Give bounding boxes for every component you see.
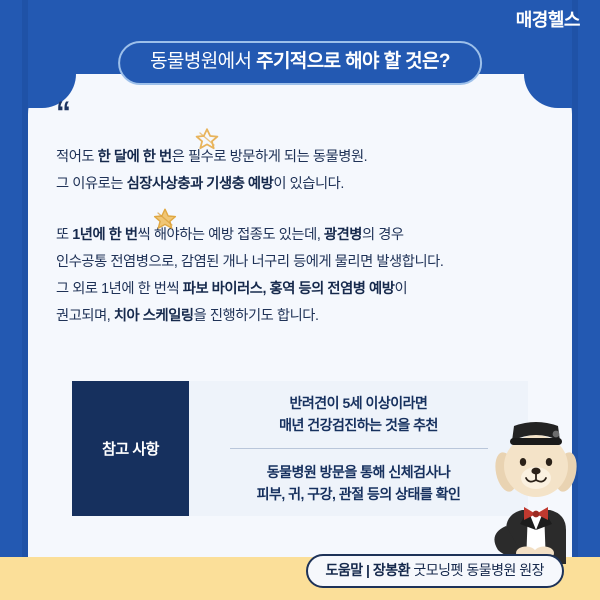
page-title-bold: 주기적으로 해야 할 것은? (256, 51, 450, 72)
credit-bold: 도움말 | 장봉환 (326, 562, 414, 578)
paragraph-2-line-1: 또 1년에 한 번씩 해야하는 예방 접종도 있는데, 광견병의 경우 (56, 222, 552, 249)
note-block-2-line-2: 피부, 귀, 구강, 관절 등의 상태를 확인 (257, 483, 461, 505)
body-copy: “ 적어도 한 달에 한 번은 필수로 방문하게 되는 동물병원. 그 이유로는… (56, 104, 552, 330)
brand-logo: 매경헬스 (516, 8, 580, 32)
p1l2-bold-1: 심장사상충과 기생충 예방 (127, 176, 274, 192)
page-title-light: 동물병원에서 (150, 51, 256, 72)
note-block-2-line-1: 동물병원 방문을 통해 신체검사나 (257, 461, 461, 483)
credit-badge: 도움말 | 장봉환 굿모닝펫 동물병원 원장 (306, 554, 564, 588)
note-block-1: 반려견이 5세 이상이라면 매년 건강검진하는 것을 추천 (279, 392, 438, 436)
paragraph-2-line-3: 그 외로 1년에 한 번씩 파보 바이러스, 홍역 등의 전염병 예방이 (56, 276, 552, 303)
star-doodle-icon (194, 126, 220, 152)
dog-doctor-mascot-icon (476, 414, 594, 564)
note-block-1-line-2: 매년 건강검진하는 것을 추천 (279, 414, 438, 436)
p2l1-bold-1: 1년에 한 번 (72, 227, 137, 243)
p2l3-plain-2: 이 (394, 281, 407, 297)
p1l2-plain-2: 이 있습니다. (273, 176, 344, 192)
p2l4-plain-2: 을 진행하기도 합니다. (194, 308, 319, 324)
paragraph-2-line-4: 권고되며, 치아 스케일링을 진행하기도 합니다. (56, 303, 552, 330)
p2l4-bold-1: 치아 스케일링 (114, 308, 194, 324)
p2l1-plain-1: 또 (56, 227, 72, 243)
infographic-card: 매경헬스 동물병원에서 주기적으로 해야 할 것은? “ 적어도 한 달에 한 … (0, 0, 600, 600)
note-box: 참고 사항 반려견이 5세 이상이라면 매년 건강검진하는 것을 추천 동물병원… (72, 381, 528, 516)
paragraph-2-line-2: 인수공통 전염병으로, 감염된 개나 너구리 등에게 물리면 발생합니다. (56, 249, 552, 276)
note-box-label-text: 참고 사항 (102, 438, 159, 459)
note-box-divider (230, 448, 488, 449)
note-block-1-line-1: 반려견이 5세 이상이라면 (279, 392, 438, 414)
paragraph-1-line-1: 적어도 한 달에 한 번은 필수로 방문하게 되는 동물병원. (56, 144, 552, 171)
paragraph-1-line-2: 그 이유로는 심장사상충과 기생충 예방이 있습니다. (56, 171, 552, 198)
credit-regular: 굿모닝펫 동물병원 원장 (413, 562, 544, 578)
p1l2-plain-1: 그 이유로는 (56, 176, 127, 192)
star-doodle-icon (152, 206, 178, 232)
p1l1-plain-1: 적어도 (56, 149, 98, 165)
p2l4-plain-1: 권고되며, (56, 308, 114, 324)
page-title: 동물병원에서 주기적으로 해야 할 것은? (118, 41, 482, 85)
p2l2-plain-1: 인수공통 전염병으로, 감염된 개나 너구리 등에게 물리면 발생합니다. (56, 254, 443, 270)
p1l1-bold-1: 한 달에 한 번 (98, 149, 172, 165)
p2l3-bold-1: 파보 바이러스, 홍역 등의 전염병 예방 (183, 281, 395, 297)
p2l1-bold-2: 광견병 (324, 227, 362, 243)
note-box-label: 참고 사항 (72, 381, 189, 516)
p2l1-plain-3: 의 경우 (362, 227, 404, 243)
quote-icon: “ (56, 104, 552, 128)
note-block-2: 동물병원 방문을 통해 신체검사나 피부, 귀, 구강, 관절 등의 상태를 확… (257, 461, 461, 505)
p2l3-plain-1: 그 외로 1년에 한 번씩 (56, 281, 183, 297)
